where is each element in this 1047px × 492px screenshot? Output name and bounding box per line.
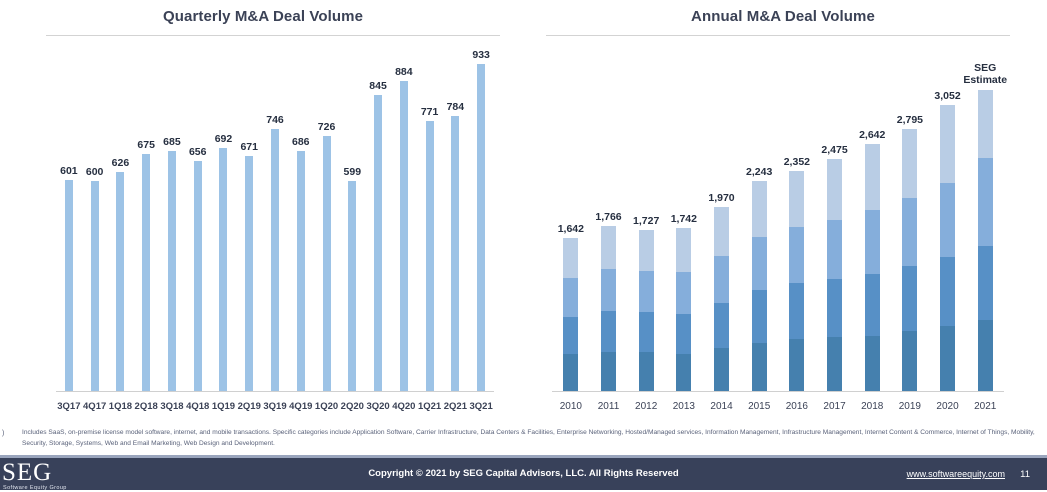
- annual-bar-value-label: 1,970: [708, 192, 734, 204]
- annual-title-divider: [546, 35, 1010, 36]
- annual-stacked-bar: [940, 105, 955, 392]
- annual-x-label: 2021: [966, 401, 1004, 412]
- quarterly-bar-column: 671: [236, 40, 262, 392]
- annual-bar-segment-q3: [978, 158, 993, 246]
- annual-bar-segment-q3: [639, 271, 654, 311]
- quarterly-bar-column: 675: [133, 40, 159, 392]
- annual-bar-segment-q3: [752, 237, 767, 291]
- annual-bar-segment-q2: [902, 266, 917, 331]
- annual-bar-value-label: 2,243: [746, 166, 772, 178]
- quarterly-bar-value-label: 784: [447, 101, 465, 113]
- quarterly-bar-value-label: 884: [395, 66, 413, 78]
- quarterly-bar-value-label: 686: [292, 136, 310, 148]
- annual-x-label: 2017: [816, 401, 854, 412]
- quarterly-bar-value-label: 726: [318, 121, 336, 133]
- annual-stacked-bar: [827, 159, 842, 392]
- annual-x-axis-line: [552, 391, 1004, 392]
- annual-stacked-bar: [563, 238, 578, 392]
- annual-bar-segment-q3: [563, 278, 578, 317]
- annual-bar-segment-q4: [563, 238, 578, 278]
- quarterly-x-label: 1Q19: [211, 401, 237, 412]
- footnote-text: Includes SaaS, on-premise license model …: [22, 428, 1039, 449]
- quarterly-bar-column: 784: [442, 40, 468, 392]
- quarterly-bar-value-label: 933: [472, 49, 490, 61]
- annual-bar-segment-q1: [676, 354, 691, 392]
- quarterly-bar: [219, 148, 227, 392]
- annual-bar-segment-q1: [978, 320, 993, 392]
- website-link[interactable]: www.softwareequity.com: [907, 469, 1005, 479]
- quarterly-bar-value-label: 685: [163, 136, 181, 148]
- annual-bar-column: SEGEstimate: [966, 40, 1004, 392]
- quarterly-bar-column: 845: [365, 40, 391, 392]
- annual-bar-segment-q4: [902, 129, 917, 198]
- annual-bar-column: 2,352: [778, 40, 816, 392]
- quarterly-x-label: 4Q18: [185, 401, 211, 412]
- quarterly-x-label: 4Q17: [82, 401, 108, 412]
- annual-stacked-bar: [978, 90, 993, 392]
- annual-bar-segment-q2: [676, 314, 691, 354]
- footer-bar: SEG Software Equity Group Copyright © 20…: [0, 458, 1047, 490]
- quarterly-x-label: 3Q20: [365, 401, 391, 412]
- annual-bars: 1,6421,7661,7271,7421,9702,2432,3522,475…: [552, 40, 1004, 392]
- quarterly-x-label: 2Q18: [133, 401, 159, 412]
- quarterly-bar-column: 692: [211, 40, 237, 392]
- quarterly-bar-value-label: 626: [112, 157, 130, 169]
- annual-bar-segment-q4: [827, 159, 842, 220]
- quarterly-bar: [297, 151, 305, 392]
- quarterly-bar: [477, 64, 485, 392]
- annual-x-axis-labels: 2010201120122013201420152016201720182019…: [552, 401, 1004, 412]
- annual-bar-value-label: 1,642: [558, 223, 584, 235]
- annual-bar-segment-q1: [902, 331, 917, 392]
- quarterly-x-label: 2Q20: [339, 401, 365, 412]
- quarterly-bar-column: 771: [417, 40, 443, 392]
- quarterly-bar: [65, 180, 73, 392]
- quarterly-bar-column: 933: [468, 40, 494, 392]
- annual-bar-value-label: 2,795: [897, 114, 923, 126]
- quarterly-bar-value-label: 845: [369, 80, 387, 92]
- quarterly-x-label: 2Q21: [442, 401, 468, 412]
- annual-bar-segment-q3: [902, 198, 917, 266]
- quarterly-bar-column: 600: [82, 40, 108, 392]
- quarterly-bar: [271, 129, 279, 392]
- annual-bar-column: 2,243: [740, 40, 778, 392]
- annual-bar-segment-q1: [940, 326, 955, 392]
- annual-x-label: 2016: [778, 401, 816, 412]
- quarterly-bar-value-label: 675: [137, 139, 155, 151]
- annual-x-label: 2010: [552, 401, 590, 412]
- annual-x-label: 2013: [665, 401, 703, 412]
- annual-bar-segment-q2: [978, 246, 993, 320]
- footnote: ) Includes SaaS, on-premise license mode…: [0, 428, 1047, 454]
- quarterly-x-label: 3Q19: [262, 401, 288, 412]
- quarterly-bar: [194, 161, 202, 392]
- quarterly-bar: [116, 172, 124, 392]
- annual-stacked-bar: [752, 181, 767, 392]
- quarterly-bar: [400, 81, 408, 392]
- quarterly-bar-value-label: 746: [266, 114, 284, 126]
- quarterly-x-label: 1Q18: [108, 401, 134, 412]
- quarterly-x-label: 3Q21: [468, 401, 494, 412]
- annual-bar-segment-q2: [752, 290, 767, 343]
- quarterly-bar-value-label: 601: [60, 165, 78, 177]
- quarterly-bar: [245, 156, 253, 392]
- quarterly-bar: [91, 181, 99, 392]
- annual-chart-title: Annual M&A Deal Volume: [528, 8, 1038, 25]
- annual-bar-segment-q4: [865, 144, 880, 210]
- annual-bar-segment-q4: [752, 181, 767, 237]
- quarterly-bar-column: 685: [159, 40, 185, 392]
- annual-bar-segment-q3: [601, 269, 616, 311]
- annual-x-label: 2012: [627, 401, 665, 412]
- quarterly-x-label: 1Q21: [417, 401, 443, 412]
- annual-bar-segment-q2: [714, 303, 729, 349]
- quarterly-bar: [142, 154, 150, 392]
- annual-bar-column: 1,727: [627, 40, 665, 392]
- footnote-marker: ): [2, 429, 4, 440]
- annual-stacked-bar: [676, 228, 691, 392]
- annual-stacked-bar: [714, 207, 729, 392]
- quarterly-bar-column: 884: [391, 40, 417, 392]
- annual-bar-segment-q1: [601, 352, 616, 392]
- annual-x-label: 2014: [703, 401, 741, 412]
- quarterly-bar-column: 686: [288, 40, 314, 392]
- annual-bar-value-label: 2,475: [821, 144, 847, 156]
- annual-bar-segment-q2: [789, 283, 804, 339]
- annual-bar-value-label: 2,352: [784, 156, 810, 168]
- quarterly-x-axis-line: [56, 391, 494, 392]
- quarterly-bar-value-label: 656: [189, 146, 207, 158]
- annual-bar-column: 1,970: [703, 40, 741, 392]
- annual-bar-value-label: SEGEstimate: [963, 62, 1007, 86]
- annual-bar-segment-q4: [639, 230, 654, 271]
- annual-stacked-bar: [601, 226, 616, 392]
- annual-chart-panel: Annual M&A Deal Volume 1,6421,7661,7271,…: [528, 0, 1038, 420]
- quarterly-bar-column: 626: [108, 40, 134, 392]
- annual-stacked-bar: [865, 144, 880, 392]
- annual-x-label: 2019: [891, 401, 929, 412]
- quarterly-bar-column: 601: [56, 40, 82, 392]
- annual-bar-segment-q2: [827, 279, 842, 337]
- quarterly-bar: [426, 121, 434, 392]
- annual-bar-segment-q3: [827, 220, 842, 280]
- quarterly-bar: [348, 181, 356, 392]
- quarterly-x-label: 1Q20: [314, 401, 340, 412]
- annual-bar-column: 1,642: [552, 40, 590, 392]
- annual-bar-segment-q3: [714, 256, 729, 303]
- annual-bar-segment-q4: [676, 228, 691, 272]
- quarterly-x-label: 4Q19: [288, 401, 314, 412]
- annual-bar-segment-q4: [940, 105, 955, 183]
- annual-bar-segment-q3: [940, 183, 955, 256]
- quarterly-bar-value-label: 671: [240, 141, 258, 153]
- annual-bar-column: 2,642: [853, 40, 891, 392]
- annual-bar-segment-q1: [865, 336, 880, 392]
- annual-bar-segment-q4: [714, 207, 729, 256]
- quarterly-bar: [168, 151, 176, 392]
- annual-x-label: 2015: [740, 401, 778, 412]
- annual-bar-value-label: 2,642: [859, 129, 885, 141]
- page-number: 11: [1020, 469, 1030, 480]
- annual-bar-segment-q3: [789, 227, 804, 283]
- annual-bar-segment-q4: [601, 226, 616, 269]
- quarterly-bars: 6016006266756856566926717466867265998458…: [56, 40, 494, 392]
- quarterly-bar-column: 656: [185, 40, 211, 392]
- annual-bar-segment-q1: [789, 339, 804, 392]
- annual-stacked-bar: [789, 171, 804, 392]
- annual-x-label: 2018: [853, 401, 891, 412]
- annual-bar-column: 1,742: [665, 40, 703, 392]
- annual-stacked-bar: [902, 129, 917, 392]
- quarterly-x-label: 2Q19: [236, 401, 262, 412]
- annual-bar-column: 3,052: [929, 40, 967, 392]
- annual-bar-value-label: 1,727: [633, 215, 659, 227]
- annual-bar-segment-q1: [714, 348, 729, 392]
- annual-bar-segment-q1: [639, 352, 654, 392]
- quarterly-bar-column: 746: [262, 40, 288, 392]
- quarterly-bar-column: 599: [339, 40, 365, 392]
- quarterly-title-divider: [46, 35, 500, 36]
- seg-logo-tagline: Software Equity Group: [0, 485, 110, 492]
- annual-bar-segment-q2: [639, 312, 654, 352]
- quarterly-x-label: 3Q17: [56, 401, 82, 412]
- annual-bar-segment-q2: [940, 257, 955, 327]
- annual-plot-area: 1,6421,7661,7271,7421,9702,2432,3522,475…: [528, 40, 1038, 420]
- quarterly-x-label: 4Q20: [391, 401, 417, 412]
- annual-stacked-bar: [639, 230, 654, 392]
- annual-bar-segment-q2: [563, 317, 578, 355]
- annual-x-label: 2020: [929, 401, 967, 412]
- quarterly-bar: [323, 136, 331, 392]
- copyright-text: Copyright © 2021 by SEG Capital Advisors…: [0, 468, 1047, 479]
- annual-bar-value-label: 3,052: [934, 90, 960, 102]
- quarterly-bar: [374, 95, 382, 392]
- quarterly-chart-title: Quarterly M&A Deal Volume: [8, 8, 518, 25]
- annual-bar-segment-q4: [978, 90, 993, 158]
- annual-bar-segment-q1: [752, 343, 767, 392]
- quarterly-bar-value-label: 600: [86, 166, 104, 178]
- annual-bar-column: 2,475: [816, 40, 854, 392]
- annual-x-label: 2011: [590, 401, 628, 412]
- annual-bar-value-label: 1,766: [595, 211, 621, 223]
- annual-bar-segment-q1: [563, 354, 578, 392]
- annual-bar-segment-q2: [601, 311, 616, 352]
- quarterly-bar-value-label: 599: [344, 166, 362, 178]
- annual-bar-column: 2,795: [891, 40, 929, 392]
- annual-bar-segment-q3: [865, 210, 880, 274]
- quarterly-bar-value-label: 692: [215, 133, 233, 145]
- annual-bar-segment-q3: [676, 272, 691, 313]
- annual-bar-value-label: 1,742: [671, 213, 697, 225]
- quarterly-x-label: 3Q18: [159, 401, 185, 412]
- quarterly-bar: [451, 116, 459, 392]
- annual-bar-segment-q2: [865, 274, 880, 336]
- quarterly-chart-panel: Quarterly M&A Deal Volume 60160062667568…: [8, 0, 518, 420]
- quarterly-x-axis-labels: 3Q174Q171Q182Q183Q184Q181Q192Q193Q194Q19…: [56, 401, 494, 412]
- quarterly-plot-area: 6016006266756856566926717466867265998458…: [8, 40, 518, 420]
- annual-bar-column: 1,766: [590, 40, 628, 392]
- quarterly-bar-value-label: 771: [421, 106, 439, 118]
- quarterly-bar-column: 726: [314, 40, 340, 392]
- annual-bar-segment-q1: [827, 337, 842, 392]
- annual-bar-segment-q4: [789, 171, 804, 227]
- slide: Quarterly M&A Deal Volume 60160062667568…: [0, 0, 1047, 490]
